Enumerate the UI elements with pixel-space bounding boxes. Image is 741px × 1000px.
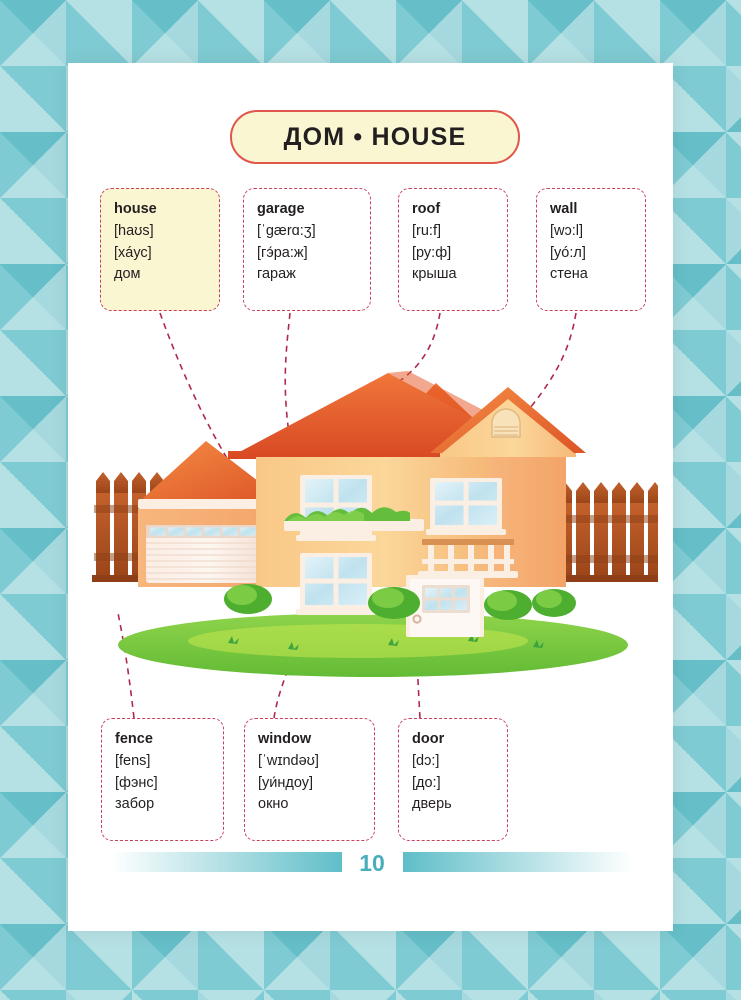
word-translit: [хáус] [114, 243, 219, 265]
word-en: house [114, 199, 219, 221]
word-translit: [гэ́ра:ж] [257, 243, 370, 265]
word-card-wall[interactable]: wall [wɔ:l] [уó:л] стена [536, 188, 646, 311]
gable-vent [492, 409, 520, 437]
word-translation: дом [114, 264, 219, 286]
window-upper-left [296, 475, 376, 541]
page-title-pill: ДОМ • HOUSE [230, 110, 520, 164]
word-translation: забор [115, 794, 223, 816]
word-translit: [уó:л] [550, 243, 645, 265]
word-en: roof [412, 199, 507, 221]
word-card-fence[interactable]: fence [fens] [фэнс] забор [101, 718, 224, 841]
footer-bar-left [112, 852, 342, 872]
word-en: door [412, 729, 507, 751]
book-page: ДОМ • HOUSE [68, 63, 673, 931]
word-card-house[interactable]: house [haʊs] [хáус] дом [100, 188, 220, 311]
word-translation: окно [258, 794, 374, 816]
word-ipa: [dɔ:] [412, 751, 507, 773]
word-translation: гараж [257, 264, 370, 286]
word-card-garage[interactable]: garage [ˈgærɑ:ʒ] [гэ́ра:ж] гараж [243, 188, 371, 311]
word-translit: [уи́ндоу] [258, 773, 374, 795]
window-lower-left [296, 553, 376, 615]
word-ipa: [haʊs] [114, 221, 219, 243]
word-translit: [фэнс] [115, 773, 223, 795]
fence-right [554, 482, 658, 582]
garage-door-slats [146, 543, 274, 579]
word-ipa: [ˈwɪndəʊ] [258, 751, 374, 773]
word-translation: стена [550, 264, 645, 286]
page-title: ДОМ • HOUSE [284, 123, 467, 152]
footer-bar-right [403, 852, 633, 872]
word-translation: крыша [412, 264, 507, 286]
word-ipa: [ˈgærɑ:ʒ] [257, 221, 370, 243]
word-en: fence [115, 729, 223, 751]
house-illustration [88, 353, 658, 683]
bushes [224, 584, 576, 620]
word-card-door[interactable]: door [dɔ:] [до:] дверь [398, 718, 508, 841]
word-en: wall [550, 199, 645, 221]
word-translit: [до:] [412, 773, 507, 795]
word-translit: [ру:ф] [412, 243, 507, 265]
word-card-window[interactable]: window [ˈwɪndəʊ] [уи́ндоу] окно [244, 718, 375, 841]
page-footer: 10 [68, 838, 673, 884]
window-upper-right [426, 478, 506, 535]
word-ipa: [wɔ:l] [550, 221, 645, 243]
word-en: garage [257, 199, 370, 221]
word-ipa: [ru:f] [412, 221, 507, 243]
word-ipa: [fens] [115, 751, 223, 773]
page-number: 10 [342, 850, 402, 877]
word-card-roof[interactable]: roof [ru:f] [ру:ф] крыша [398, 188, 508, 311]
word-en: window [258, 729, 374, 751]
word-translation: дверь [412, 794, 507, 816]
garage-door-windows [150, 527, 271, 536]
